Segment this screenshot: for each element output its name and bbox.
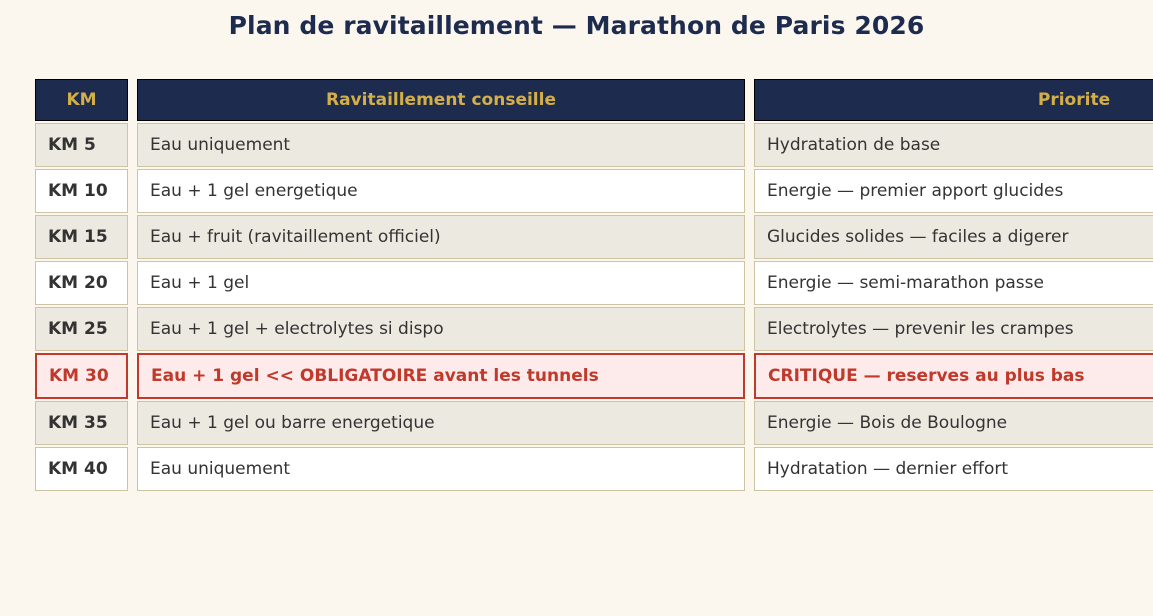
cell-ravitaillement: Eau + 1 gel + electrolytes si dispo (137, 307, 745, 351)
cell-ravitaillement: Eau + 1 gel ou barre energetique (137, 401, 745, 445)
table-row: KM 40Eau uniquementHydratation — dernier… (35, 447, 1153, 491)
plan-table-container: KM Ravitaillement conseille Priorite KM … (26, 77, 1153, 493)
cell-priorite: Energie — premier apport glucides (754, 169, 1153, 213)
cell-priorite: Energie — semi-marathon passe (754, 261, 1153, 305)
cell-km: KM 10 (35, 169, 128, 213)
cell-priorite: Glucides solides — faciles a digerer (754, 215, 1153, 259)
table-header: KM Ravitaillement conseille Priorite (35, 79, 1153, 121)
cell-km: KM 5 (35, 123, 128, 167)
cell-km: KM 40 (35, 447, 128, 491)
table-row: KM 10Eau + 1 gel energetiqueEnergie — pr… (35, 169, 1153, 213)
cell-priorite: Hydratation — dernier effort (754, 447, 1153, 491)
cell-km: KM 25 (35, 307, 128, 351)
document-page: Plan de ravitaillement — Marathon de Par… (0, 0, 1153, 616)
ravitaillement-plan-table: KM Ravitaillement conseille Priorite KM … (26, 77, 1153, 493)
column-header-km: KM (35, 79, 128, 121)
table-body: KM 5Eau uniquementHydratation de baseKM … (35, 123, 1153, 491)
table-row: KM 30Eau + 1 gel << OBLIGATOIRE avant le… (35, 353, 1153, 399)
table-row: KM 35Eau + 1 gel ou barre energetiqueEne… (35, 401, 1153, 445)
cell-ravitaillement: Eau uniquement (137, 447, 745, 491)
table-row: KM 25Eau + 1 gel + electrolytes si dispo… (35, 307, 1153, 351)
cell-ravitaillement: Eau + 1 gel (137, 261, 745, 305)
column-header-priorite: Priorite (754, 79, 1153, 121)
cell-km: KM 15 (35, 215, 128, 259)
cell-km: KM 30 (35, 353, 128, 399)
table-row: KM 5Eau uniquementHydratation de base (35, 123, 1153, 167)
cell-priorite: Hydratation de base (754, 123, 1153, 167)
page-title: Plan de ravitaillement — Marathon de Par… (0, 11, 1153, 40)
cell-priorite: Energie — Bois de Boulogne (754, 401, 1153, 445)
cell-ravitaillement: Eau + 1 gel << OBLIGATOIRE avant les tun… (137, 353, 745, 399)
table-header-row: KM Ravitaillement conseille Priorite (35, 79, 1153, 121)
cell-km: KM 20 (35, 261, 128, 305)
cell-km: KM 35 (35, 401, 128, 445)
cell-ravitaillement: Eau + 1 gel energetique (137, 169, 745, 213)
cell-ravitaillement: Eau + fruit (ravitaillement officiel) (137, 215, 745, 259)
cell-priorite: Electrolytes — prevenir les crampes (754, 307, 1153, 351)
cell-priorite: CRITIQUE — reserves au plus bas (754, 353, 1153, 399)
table-row: KM 15Eau + fruit (ravitaillement officie… (35, 215, 1153, 259)
table-row: KM 20Eau + 1 gelEnergie — semi-marathon … (35, 261, 1153, 305)
column-header-ravitaillement: Ravitaillement conseille (137, 79, 745, 121)
cell-ravitaillement: Eau uniquement (137, 123, 745, 167)
